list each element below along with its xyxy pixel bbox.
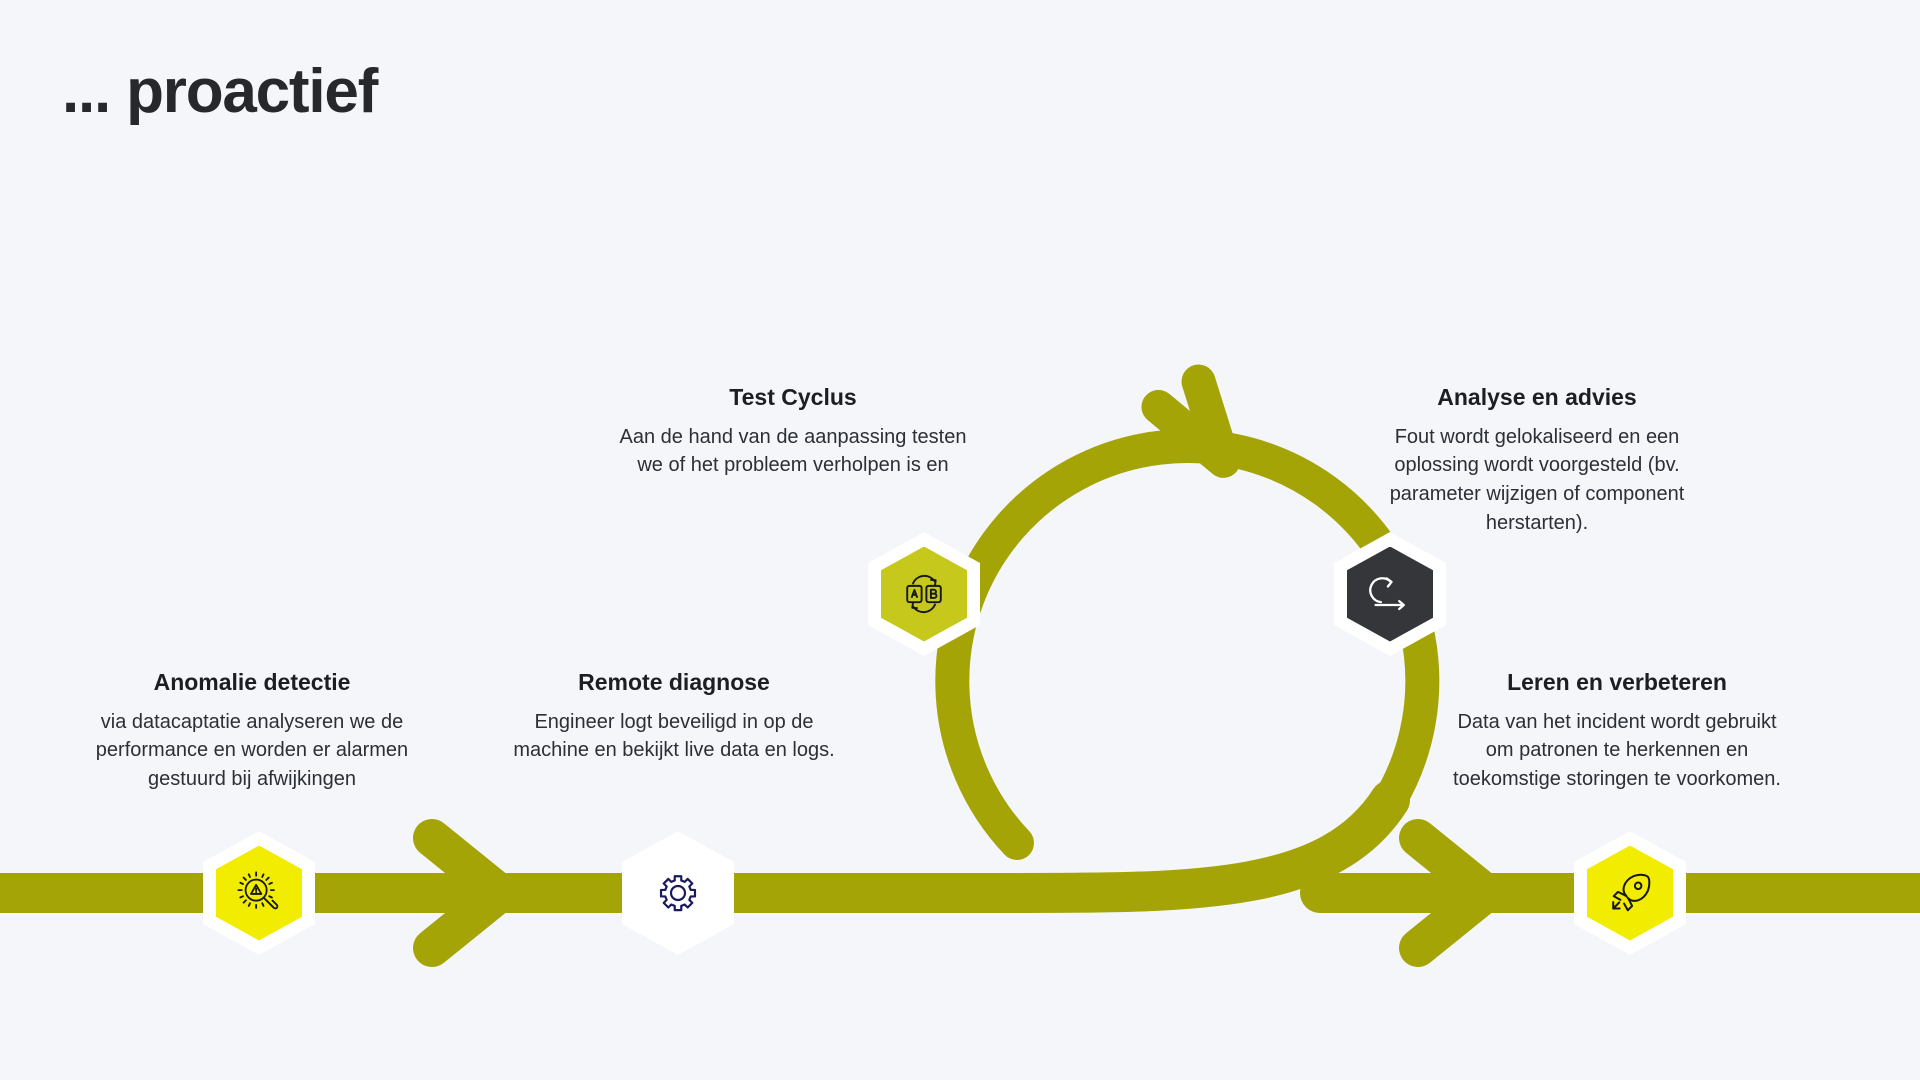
hex-node-analyse-en-advies[interactable] xyxy=(1334,532,1446,656)
step-text-analyse-en-advies: Analyse en advies Fout wordt gelokalisee… xyxy=(1372,383,1702,537)
track-curve-into-circle xyxy=(1010,800,1390,893)
step-description: Aan de hand van de aanpassing testen we … xyxy=(618,423,968,480)
step-description: via datacaptatie analyseren we de perfor… xyxy=(82,708,422,794)
hex-inner-fill xyxy=(1347,547,1433,642)
slide-canvas: ... proactief .olive-stroke { stroke:#a5… xyxy=(0,0,1920,1080)
step-title: Leren en verbeteren xyxy=(1452,668,1782,697)
hex-inner-fill xyxy=(881,547,967,642)
hex-inner-fill xyxy=(216,846,302,941)
cycle-arrowhead-left-icon xyxy=(1155,380,1224,473)
magnifier-warning-icon xyxy=(236,870,282,916)
step-title: Analyse en advies xyxy=(1372,383,1702,412)
step-text-remote-diagnose: Remote diagnose Engineer logt beveiligd … xyxy=(504,668,844,765)
hex-node-remote-diagnose[interactable] xyxy=(622,831,734,955)
track-arrowhead-2-icon xyxy=(1418,838,1486,948)
hex-inner-fill xyxy=(1587,846,1673,941)
hex-node-anomalie-detectie[interactable] xyxy=(203,831,315,955)
hex-inner-fill xyxy=(635,846,721,941)
step-title: Anomalie detectie xyxy=(82,668,422,697)
step-title: Test Cyclus xyxy=(618,383,968,412)
track-arrowhead-1-icon xyxy=(432,838,500,948)
agile-loop-icon xyxy=(1367,571,1413,617)
step-description: Engineer logt beveiligd in op de machine… xyxy=(504,708,844,765)
step-description: Data van het incident wordt gebruikt om … xyxy=(1452,708,1782,794)
gear-icon xyxy=(655,870,701,916)
page-title: ... proactief xyxy=(62,58,377,126)
hex-node-test-cyclus[interactable] xyxy=(868,532,980,656)
step-description: Fout wordt gelokaliseerd en een oplossin… xyxy=(1372,423,1702,537)
hex-node-leren-en-verbeteren[interactable] xyxy=(1574,831,1686,955)
step-text-anomalie-detectie: Anomalie detectie via datacaptatie analy… xyxy=(82,668,422,794)
step-text-test-cyclus: Test Cyclus Aan de hand van de aanpassin… xyxy=(618,383,968,480)
step-text-leren-en-verbeteren: Leren en verbeteren Data van het inciden… xyxy=(1452,668,1782,794)
step-title: Remote diagnose xyxy=(504,668,844,697)
rocket-icon xyxy=(1607,870,1653,916)
ab-test-icon xyxy=(901,571,947,617)
